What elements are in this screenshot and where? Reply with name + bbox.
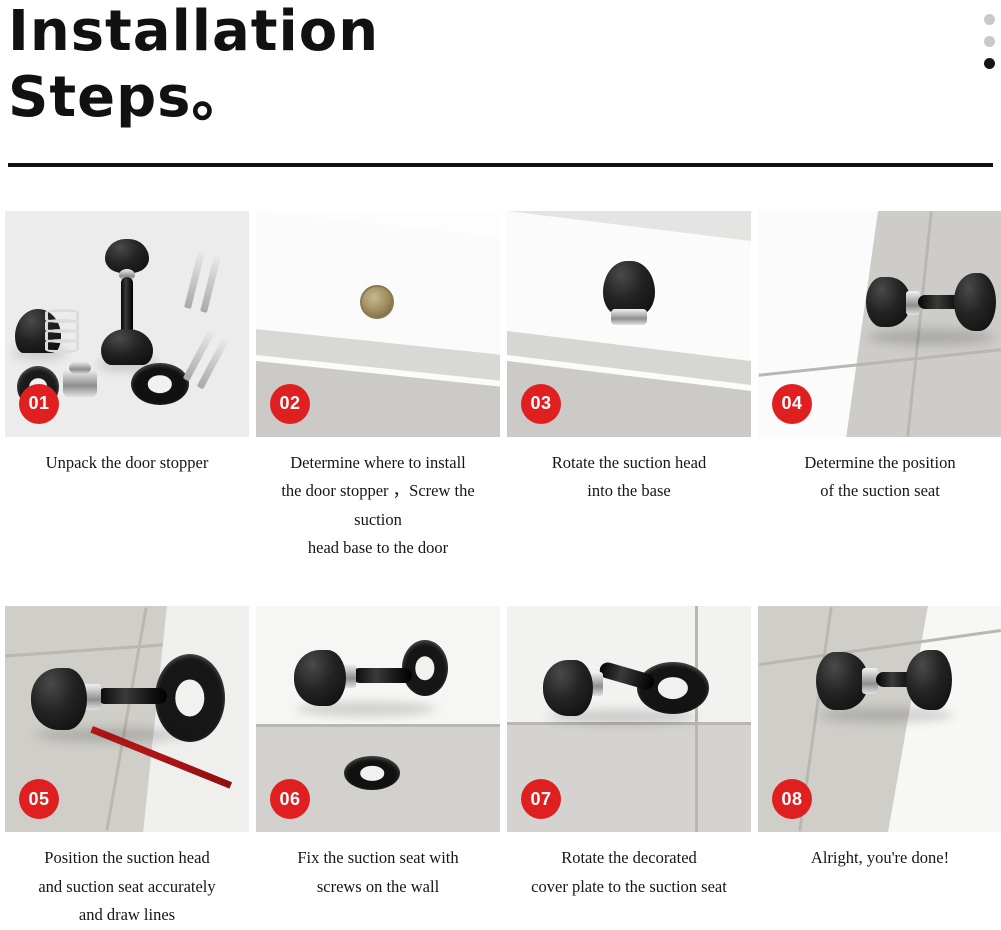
- step-image-07: 07: [507, 606, 751, 832]
- pagination-dot-3[interactable]: [984, 58, 995, 69]
- step-badge-01: 01: [19, 384, 59, 424]
- step-image-06: 06: [256, 606, 500, 832]
- step-card-08: 08 Alright, you're done!: [755, 606, 1001, 929]
- step-caption-07: Rotate the decorated cover plate to the …: [504, 832, 754, 901]
- step-card-06: 06 Fix the suction seat with screws on t…: [253, 606, 503, 929]
- step-badge-03: 03: [521, 384, 561, 424]
- step-image-08: 08: [758, 606, 1001, 832]
- step-image-01: 01: [5, 211, 249, 437]
- header-divider: [8, 163, 993, 167]
- steps-grid-row-2: 05 Position the suction head and suction…: [0, 606, 1001, 929]
- step-badge-02: 02: [270, 384, 310, 424]
- pagination-dot-2[interactable]: [984, 36, 995, 47]
- step-caption-03: Rotate the suction head into the base: [504, 437, 754, 506]
- steps-grid-row-1: 01 Unpack the door stopper 02 Determine …: [0, 211, 1001, 563]
- page-title-line-2: Steps。: [8, 62, 1001, 128]
- step-card-04: 04 Determine the position of the suction…: [755, 211, 1001, 563]
- step-badge-04: 04: [772, 384, 812, 424]
- step-card-03: 03 Rotate the suction head into the base: [504, 211, 754, 563]
- step-caption-04: Determine the position of the suction se…: [755, 437, 1001, 506]
- pagination-dot-1[interactable]: [984, 14, 995, 25]
- step-caption-08: Alright, you're done!: [755, 832, 1001, 872]
- step-card-01: 01 Unpack the door stopper: [2, 211, 252, 563]
- page-header: Installation Steps。: [0, 0, 1001, 129]
- step-caption-01: Unpack the door stopper: [2, 437, 252, 477]
- row-spacer: [0, 562, 1001, 606]
- step-image-04: 04: [758, 211, 1001, 437]
- step-caption-06: Fix the suction seat with screws on the …: [253, 832, 503, 901]
- step-caption-05: Position the suction head and suction se…: [2, 832, 252, 929]
- step-image-03: 03: [507, 211, 751, 437]
- step-card-05: 05 Position the suction head and suction…: [2, 606, 252, 929]
- step-caption-02: Determine where to install the door stop…: [253, 437, 503, 563]
- step-image-02: 02: [256, 211, 500, 437]
- step-image-05: 05: [5, 606, 249, 832]
- step-card-02: 02 Determine where to install the door s…: [253, 211, 503, 563]
- step-card-07: 07 Rotate the decorated cover plate to t…: [504, 606, 754, 929]
- page-title-line-1: Installation: [8, 0, 1001, 62]
- pagination-dots: [984, 14, 995, 69]
